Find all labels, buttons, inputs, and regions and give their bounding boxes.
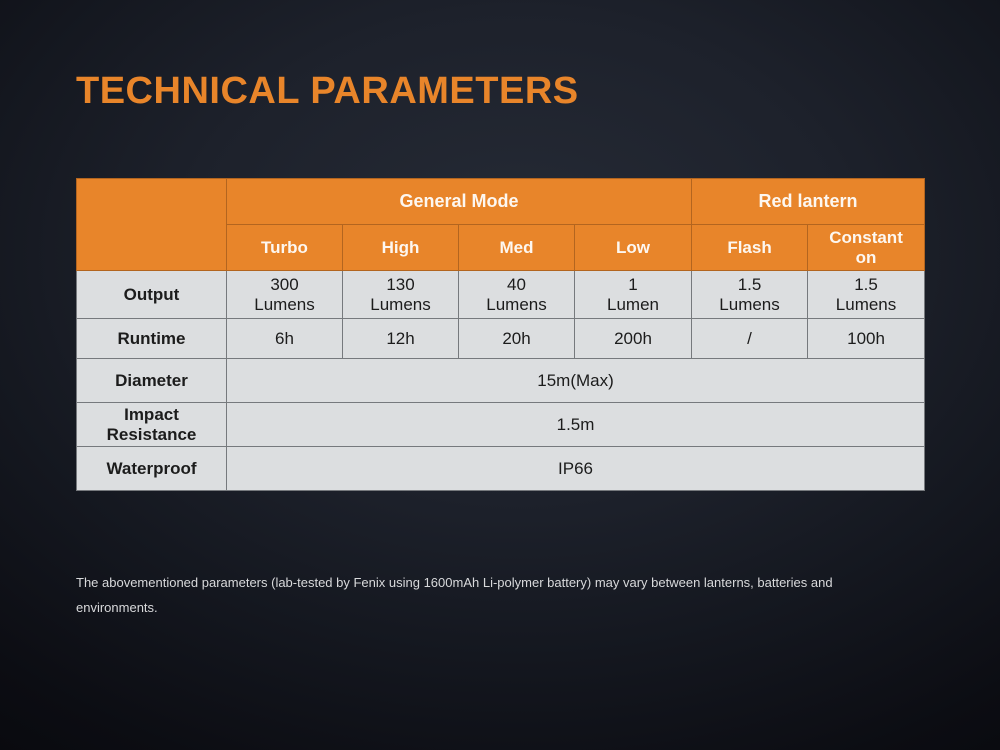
table-row-runtime: Runtime 6h 12h 20h 200h / 100h (77, 319, 925, 359)
column-header-turbo: Turbo (227, 225, 343, 271)
table-row-diameter: Diameter 15m(Max) (77, 359, 925, 403)
cell-impact-resistance-value: 1.5m (227, 403, 925, 447)
cell-output-turbo-unit: Lumens (227, 295, 342, 315)
cell-output-high-unit: Lumens (343, 295, 458, 315)
cell-runtime-high: 12h (343, 319, 459, 359)
table-corner-cell (77, 179, 227, 271)
cell-runtime-med: 20h (459, 319, 575, 359)
cell-output-constant-on-value: 1.5 (808, 275, 924, 295)
cell-waterproof-value: IP66 (227, 447, 925, 491)
row-label-runtime: Runtime (77, 319, 227, 359)
page-title: TECHNICAL PARAMETERS (76, 70, 579, 113)
cell-output-low-value: 1 (575, 275, 691, 295)
cell-diameter-value: 15m(Max) (227, 359, 925, 403)
cell-output-flash-unit: Lumens (692, 295, 807, 315)
cell-output-constant-on-unit: Lumens (808, 295, 924, 315)
footnote-text: The abovementioned parameters (lab-teste… (76, 570, 856, 621)
table-row-output: Output 300 Lumens 130 Lumens 40 Lumens 1… (77, 271, 925, 319)
column-header-low: Low (575, 225, 692, 271)
cell-output-turbo-value: 300 (227, 275, 342, 295)
cell-output-flash-value: 1.5 (692, 275, 807, 295)
cell-output-low-unit: Lumen (575, 295, 691, 315)
table-row-waterproof: Waterproof IP66 (77, 447, 925, 491)
table-header-group-row: General Mode Red lantern (77, 179, 925, 225)
column-header-constant-on: Constant on (808, 225, 925, 271)
cell-output-med-unit: Lumens (459, 295, 574, 315)
table-row-impact-resistance: Impact Resistance 1.5m (77, 403, 925, 447)
cell-runtime-turbo: 6h (227, 319, 343, 359)
row-label-impact-resistance: Impact Resistance (77, 403, 227, 447)
cell-output-high: 130 Lumens (343, 271, 459, 319)
cell-output-constant-on: 1.5 Lumens (808, 271, 925, 319)
column-header-high: High (343, 225, 459, 271)
technical-parameters-table: General Mode Red lantern Turbo High Med … (76, 178, 924, 491)
cell-output-med: 40 Lumens (459, 271, 575, 319)
cell-output-turbo: 300 Lumens (227, 271, 343, 319)
column-header-med: Med (459, 225, 575, 271)
row-label-output: Output (77, 271, 227, 319)
cell-output-flash: 1.5 Lumens (692, 271, 808, 319)
row-label-diameter: Diameter (77, 359, 227, 403)
row-label-waterproof: Waterproof (77, 447, 227, 491)
cell-output-low: 1 Lumen (575, 271, 692, 319)
cell-runtime-constant-on: 100h (808, 319, 925, 359)
column-group-general-mode: General Mode (227, 179, 692, 225)
cell-runtime-flash: / (692, 319, 808, 359)
column-header-constant-on-line2: on (808, 248, 924, 268)
cell-output-high-value: 130 (343, 275, 458, 295)
cell-output-med-value: 40 (459, 275, 574, 295)
column-group-red-lantern: Red lantern (692, 179, 925, 225)
cell-runtime-low: 200h (575, 319, 692, 359)
row-label-impact-resistance-line2: Resistance (77, 425, 226, 445)
row-label-impact-resistance-line1: Impact (77, 405, 226, 425)
column-header-constant-on-line1: Constant (808, 228, 924, 248)
column-header-flash: Flash (692, 225, 808, 271)
